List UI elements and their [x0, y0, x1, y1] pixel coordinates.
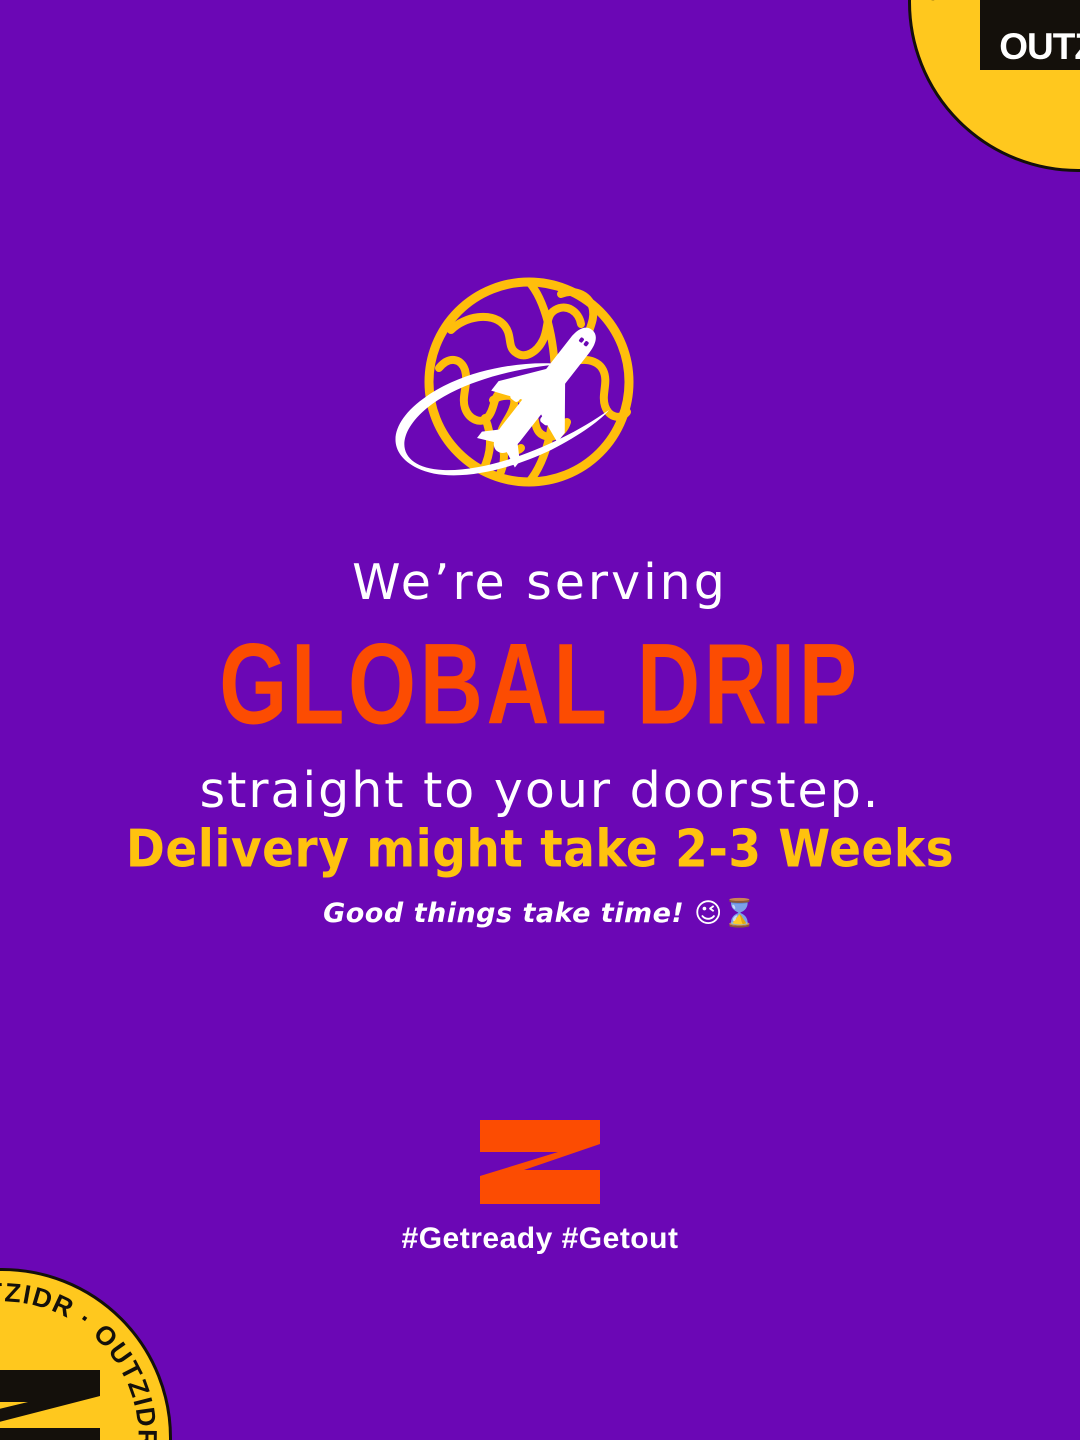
z-logo-icon	[478, 1118, 602, 1206]
outzidr-seal-bottom-left: OUTZIDR · OUTZIDR · OUTZIDR · OUTZIDR · …	[0, 1268, 172, 1440]
seal-wordmark: OUTZIDR	[980, 24, 1080, 70]
delivery-headline: Delivery might take 2-3 Weeks	[0, 817, 1080, 883]
wink-hourglass-emoji: 😉⌛	[694, 898, 757, 929]
globe-airplane-icon	[365, 272, 715, 504]
globe-emblem-container	[0, 272, 1080, 504]
seal-z-icon	[980, 0, 1080, 26]
footer-hashtags: #Getready #Getout	[0, 1222, 1080, 1256]
seal-z-icon	[0, 1370, 100, 1440]
seal-core: OUTZIDR	[0, 1370, 100, 1440]
delivery-subnote: Good things take time! 😉⌛	[0, 894, 1080, 934]
delivery-notice: Delivery might take 2-3 Weeks Good thing…	[0, 820, 1080, 934]
headline-main: GLOBAL DRIP	[38, 620, 1042, 749]
promo-poster: We’re serving GLOBAL DRIP straight to yo…	[0, 0, 1080, 1440]
delivery-subnote-text: Good things take time!	[323, 898, 684, 929]
headline-stack: We’re serving GLOBAL DRIP straight to yo…	[0, 552, 1080, 822]
headline-subline: straight to your doorstep.	[0, 760, 1080, 822]
footer-brand: #Getready #Getout	[0, 1118, 1080, 1256]
headline-kicker: We’re serving	[0, 552, 1080, 614]
seal-core: OUTZIDR	[980, 0, 1080, 70]
outzidr-seal-top-right: OUTZIDR · OUTZIDR · OUTZIDR · OUTZIDR · …	[908, 0, 1080, 172]
